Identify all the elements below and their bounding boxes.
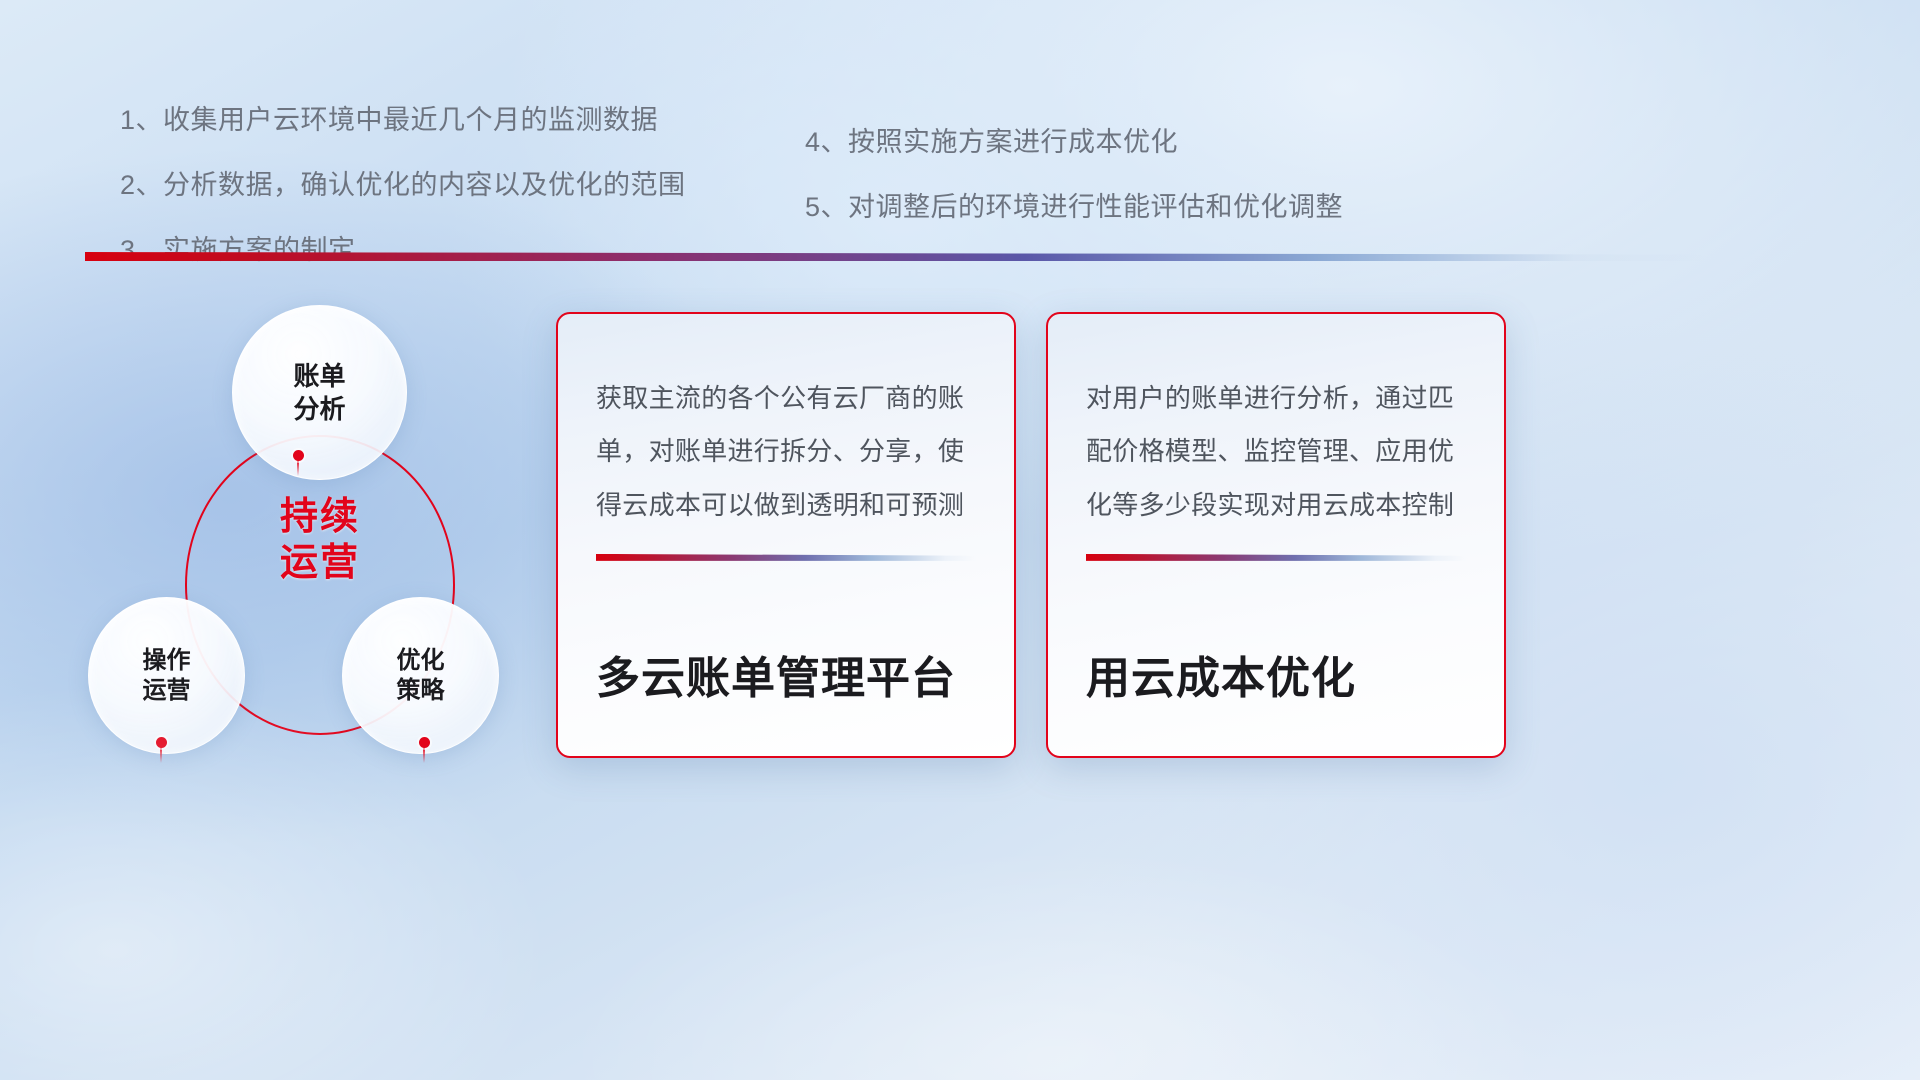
continuous-operations-diagram: 持续 运营 账单 分析 操作 运营 优化 策略	[80, 290, 540, 780]
bubble-optimization-strategy-line-2: 策略	[397, 676, 445, 706]
step-item-1: 1、收集用户云环境中最近几个月的监测数据	[120, 98, 686, 137]
node-tail-top-icon	[297, 460, 299, 476]
bubble-bill-analysis-line-2: 分析	[293, 393, 345, 425]
card-1-title: 多云账单管理平台	[596, 642, 976, 706]
node-dot-left-icon	[156, 737, 167, 748]
center-label-line-2: 运营	[185, 541, 455, 587]
step-item-2: 2、分析数据，确认优化的内容以及优化的范围	[120, 163, 686, 202]
card-2-body: 对用户的账单进行分析，通过匹配价格模型、监控管理、应用优化等多少段实现对用云成本…	[1086, 372, 1466, 532]
node-dot-top-icon	[293, 450, 304, 461]
bubble-bill-analysis-line-1: 账单	[293, 360, 345, 392]
header-gradient-rule	[85, 252, 1705, 261]
bubble-operations-line-1: 操作	[143, 646, 191, 676]
node-dot-right-icon	[419, 737, 430, 748]
slide-canvas: 1、收集用户云环境中最近几个月的监测数据 2、分析数据，确认优化的内容以及优化的…	[0, 0, 1920, 1080]
bubble-optimization-strategy-line-1: 优化	[397, 646, 445, 676]
card-cloud-cost-optimization[interactable]: 对用户的账单进行分析，通过匹配价格模型、监控管理、应用优化等多少段实现对用云成本…	[1046, 312, 1506, 758]
step-item-4: 4、按照实施方案进行成本优化	[805, 120, 1343, 159]
bubble-operations[interactable]: 操作 运营	[88, 597, 245, 754]
steps-list-right: 4、按照实施方案进行成本优化 5、对调整后的环境进行性能评估和优化调整	[805, 120, 1343, 224]
node-tail-right-icon	[423, 747, 425, 763]
diagram-center-label: 持续 运营	[185, 495, 455, 586]
center-label-line-1: 持续	[185, 495, 455, 541]
steps-list-left: 1、收集用户云环境中最近几个月的监测数据 2、分析数据，确认优化的内容以及优化的…	[120, 98, 686, 267]
card-multi-cloud-bill-platform[interactable]: 获取主流的各个公有云厂商的账单，对账单进行拆分、分享，使得云成本可以做到透明和可…	[556, 312, 1016, 758]
node-tail-left-icon	[160, 747, 162, 763]
bubble-bill-analysis[interactable]: 账单 分析	[232, 305, 407, 480]
step-item-5: 5、对调整后的环境进行性能评估和优化调整	[805, 185, 1343, 224]
bubble-operations-line-2: 运营	[143, 676, 191, 706]
card-2-title: 用云成本优化	[1086, 642, 1466, 706]
bubble-optimization-strategy[interactable]: 优化 策略	[342, 597, 499, 754]
step-item-3: 3、实施方案的制定	[120, 228, 686, 267]
card-1-divider	[596, 554, 976, 561]
card-2-divider	[1086, 554, 1466, 561]
card-1-body: 获取主流的各个公有云厂商的账单，对账单进行拆分、分享，使得云成本可以做到透明和可…	[596, 372, 976, 532]
